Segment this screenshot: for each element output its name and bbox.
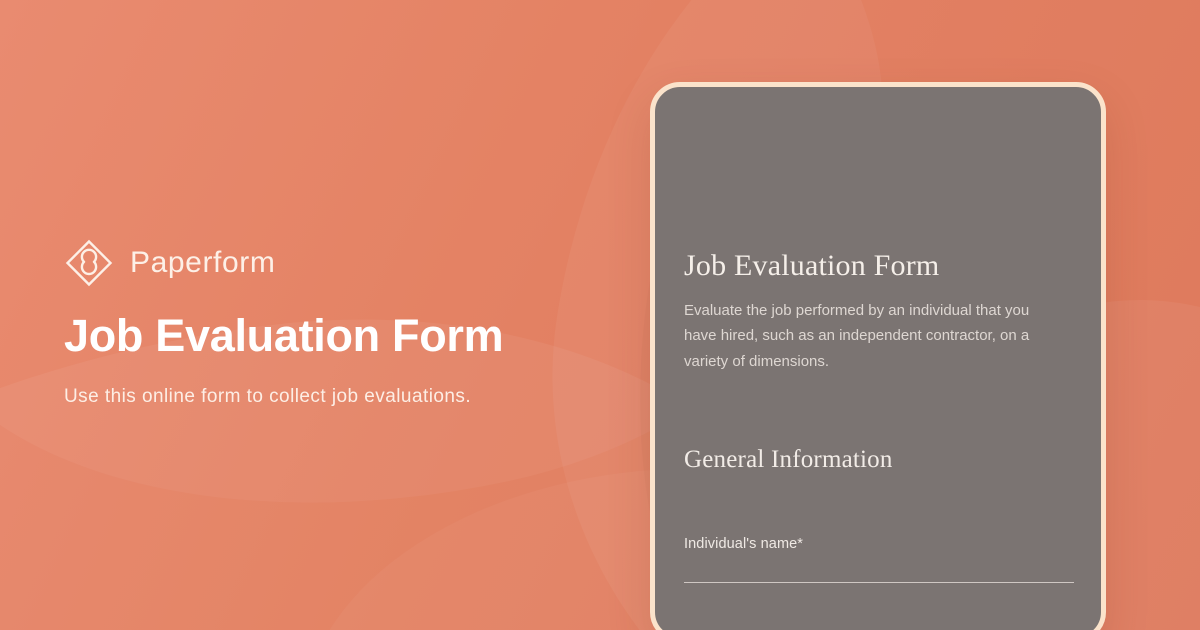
form-preview-card[interactable]: Job Evaluation Form Evaluate the job per… (650, 82, 1106, 630)
form-title: Job Evaluation Form (684, 249, 1072, 284)
form-preview-content: Job Evaluation Form Evaluate the job per… (655, 87, 1101, 583)
individual-name-input[interactable] (684, 582, 1074, 583)
hero-column: Paperform Job Evaluation Form Use this o… (64, 0, 624, 630)
paperform-logo-icon (64, 238, 114, 288)
form-section-heading: General Information (684, 446, 1072, 474)
page-subtitle: Use this online form to collect job eval… (64, 386, 471, 408)
form-description: Evaluate the job performed by an individ… (684, 298, 1062, 375)
field-label: Individual's name* (684, 536, 1072, 552)
brand-name: Paperform (130, 246, 275, 280)
form-field-individual-name: Individual's name* (684, 536, 1072, 583)
promo-banner: Paperform Job Evaluation Form Use this o… (0, 0, 1200, 630)
page-title: Job Evaluation Form (64, 309, 503, 363)
brand-lockup: Paperform (64, 238, 275, 288)
